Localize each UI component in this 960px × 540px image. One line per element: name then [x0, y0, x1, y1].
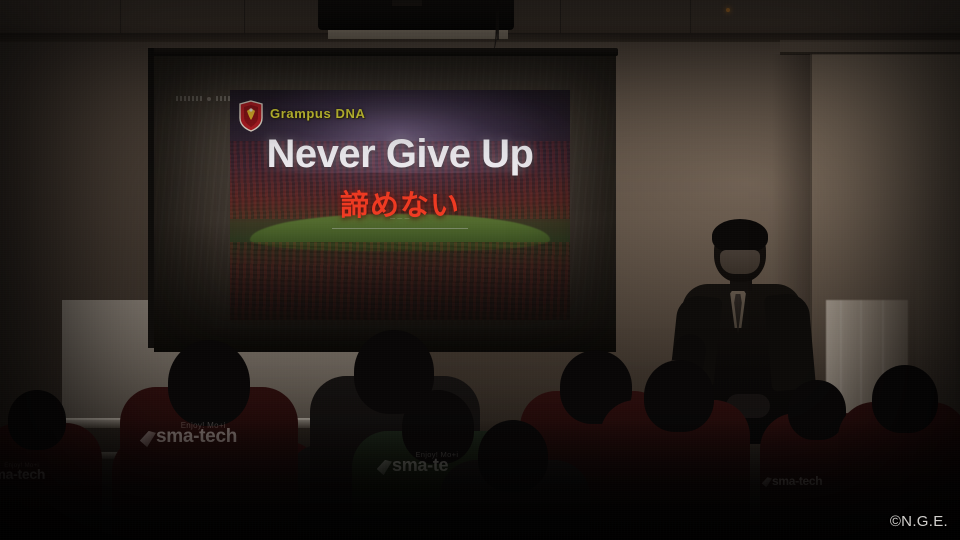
audience-head: [168, 340, 250, 426]
audience-head: [872, 365, 938, 433]
ceiling-tile-line: [690, 0, 691, 36]
ceiling-tile-line: [560, 0, 561, 36]
audience-head: [644, 360, 714, 432]
presenter-shoulder-right: [764, 292, 816, 391]
jersey-sponsor-text: sma-tech: [156, 426, 237, 448]
hanging-cord-2: [497, 0, 499, 40]
audience-member: [440, 420, 590, 540]
jersey-sponsor-text: sma-tech: [772, 474, 822, 488]
jersey-sponsor-text: sma-tech: [0, 466, 45, 482]
ceiling-tile-line: [244, 0, 245, 36]
face-mask-icon: [720, 250, 760, 274]
audience-head: [478, 420, 548, 492]
ceiling-tile-line: [120, 0, 121, 36]
audience-head: [8, 390, 66, 450]
projector-power-led: [726, 8, 730, 12]
projection-screen-roller: [148, 48, 618, 56]
projector-backplate: [328, 30, 508, 39]
audience-member: Enjoy! Mo+isma-tech: [0, 390, 102, 540]
presenter-hair: [712, 219, 768, 253]
projection-screen: Grampus DNA Never Give Up 諦めない — — —: [154, 56, 616, 352]
audience-member: [600, 360, 750, 540]
screenshot-root: Grampus DNA Never Give Up 諦めない — — — Enj…: [0, 0, 960, 540]
projector-mount: [392, 0, 422, 6]
copyright-watermark: ©N.G.E.: [890, 513, 948, 530]
audience-member: Enjoy! Mo+isma-tech: [120, 340, 298, 540]
screen-vignette: [154, 56, 616, 352]
